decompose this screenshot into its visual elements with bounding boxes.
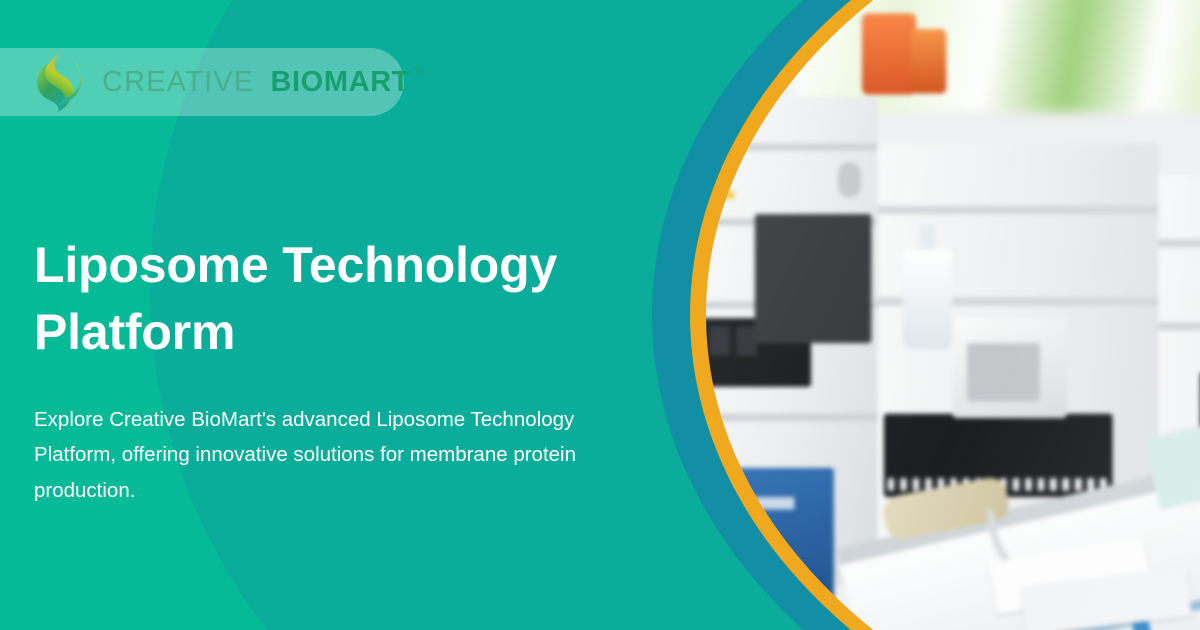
creative-biomart-helix-leaf-icon (32, 51, 84, 113)
hero-banner: CREATIVE BIOMART ® Liposome Technology P… (0, 0, 1200, 630)
hero-description: Explore Creative BioMart's advanced Lipo… (34, 402, 634, 508)
laboratory-photo (706, 0, 1200, 630)
brand-name-creative: CREATIVE (102, 66, 254, 99)
page-title: Liposome Technology Platform (34, 232, 654, 366)
brand-name-biomart: BIOMART (270, 66, 410, 99)
registered-trademark-icon: ® (413, 62, 423, 78)
brand-wordmark: CREATIVE BIOMART ® (102, 66, 423, 99)
brand-logo[interactable]: CREATIVE BIOMART ® (0, 48, 404, 116)
hero-copy: Liposome Technology Platform Explore Cre… (34, 232, 654, 508)
